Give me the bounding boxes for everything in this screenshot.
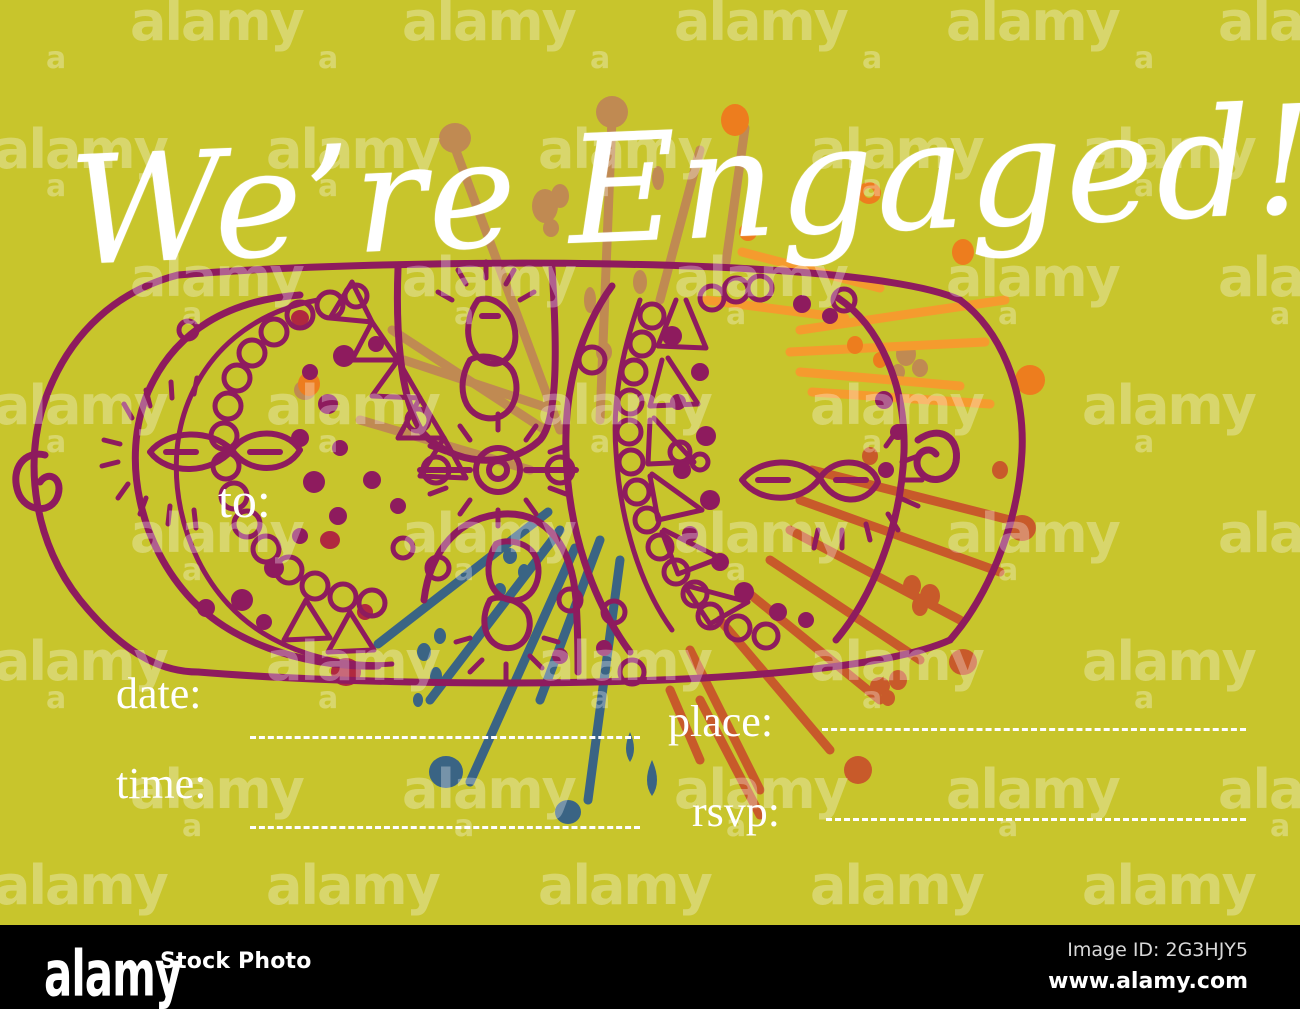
svg-text:alamy: alamy [538,118,713,181]
svg-text:alamy: alamy [1082,118,1257,181]
svg-text:alamy: alamy [810,854,985,917]
svg-text:a: a [46,41,66,76]
svg-text:alamy: alamy [1082,630,1257,693]
field-rule-time[interactable] [250,826,640,829]
svg-text:alamy: alamy [538,854,713,917]
svg-text:alamy: alamy [1218,246,1300,309]
svg-text:alamy: alamy [810,118,985,181]
svg-text:alamy: alamy [810,630,985,693]
field-label-place: place: [668,700,773,744]
svg-text:a: a [590,41,610,76]
svg-text:alamy: alamy [538,630,713,693]
stock-photo-label: Stock Photo [160,949,312,974]
svg-text:alamy: alamy [1218,0,1300,53]
screenshot-root: a a a a a a a a a a a a a a a a a [0,0,1300,1009]
svg-text:alamy: alamy [266,854,441,917]
field-label-to: to: [218,478,271,522]
svg-text:a: a [862,41,882,76]
svg-text:alamy: alamy [266,374,441,437]
invitation-card: a a a a a a a a a a a a a a a a a [0,0,1300,925]
field-rule-date[interactable] [250,736,640,739]
field-label-time: time: [116,762,206,806]
svg-text:alamy: alamy [946,0,1121,53]
svg-text:alamy: alamy [402,502,577,565]
svg-text:alamy: alamy [674,0,849,53]
image-id-label: Image ID: 2G3HJY5 [1067,939,1248,961]
svg-text:alamy: alamy [130,0,305,53]
svg-text:alamy: alamy [266,118,441,181]
field-rule-place[interactable] [822,728,1246,731]
svg-text:alamy: alamy [402,0,577,53]
svg-text:alamy: alamy [1082,854,1257,917]
svg-text:alamy: alamy [402,246,577,309]
svg-text:alamy: alamy [0,118,169,181]
svg-text:alamy: alamy [0,374,169,437]
svg-text:alamy: alamy [674,246,849,309]
field-label-date: date: [116,672,202,716]
svg-text:alamy: alamy [1082,374,1257,437]
svg-text:alamy: alamy [266,630,441,693]
svg-text:alamy: alamy [674,502,849,565]
svg-text:alamy: alamy [946,246,1121,309]
svg-text:alamy: alamy [538,374,713,437]
svg-text:alamy: alamy [946,502,1121,565]
field-label-rsvp: rsvp: [692,790,780,834]
svg-text:alamy: alamy [946,758,1121,821]
field-rule-rsvp[interactable] [826,818,1246,821]
svg-text:a: a [1134,41,1154,76]
svg-text:alamy: alamy [402,758,577,821]
svg-text:alamy: alamy [1218,502,1300,565]
alamy-url: www.alamy.com [1048,969,1248,994]
svg-text:alamy: alamy [130,246,305,309]
svg-text:a: a [318,41,338,76]
svg-text:alamy: alamy [0,854,169,917]
alamy-footer-bar: alamy Stock Photo Image ID: 2G3HJY5 www.… [0,925,1300,1009]
svg-text:alamy: alamy [810,374,985,437]
svg-text:alamy: alamy [1218,758,1300,821]
